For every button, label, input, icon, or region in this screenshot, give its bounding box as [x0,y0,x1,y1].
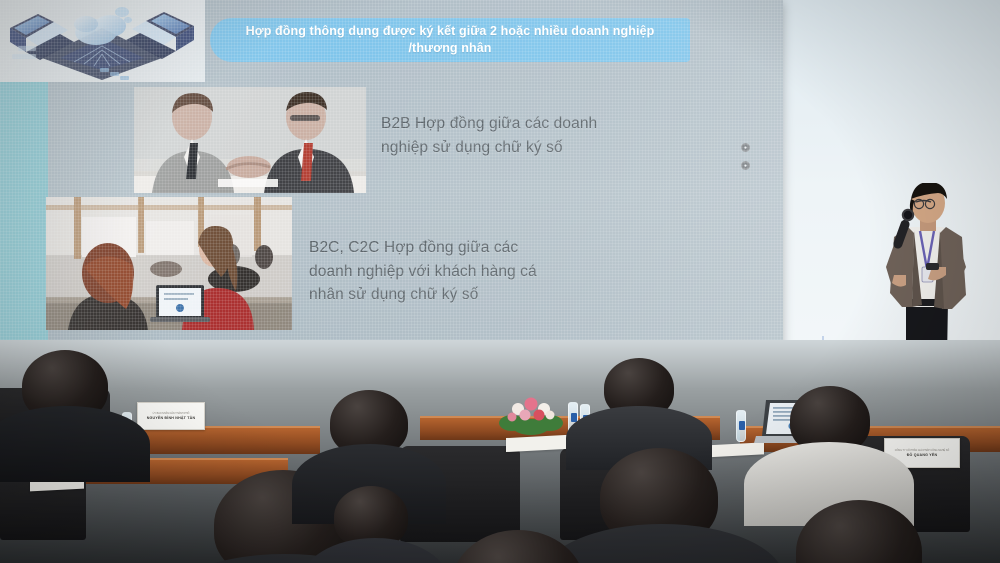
slide-title-text: Hợp đồng thông dụng được ký kết giữa 2 h… [210,23,690,57]
slide-text-b2c: B2C, C2C Hợp đồng giữa các doanh nghiệp … [309,236,559,307]
flower-bouquet [498,393,564,435]
slide-accent-band [0,82,48,349]
name-card-left-name: NGUYỄN ĐÌNH NHẬT TÂN [147,416,196,420]
slide-title-banner: Hợp đồng thông dụng được ký kết giữa 2 h… [210,18,690,62]
bullet-dot-2: ● [741,161,750,170]
name-card-right-name: ĐỖ QUANG YÊN [907,453,938,457]
isometric-laptops-handshake-illustration [4,2,200,82]
slide-image-retail-counter [46,197,292,330]
slide-image-handshake [134,87,366,193]
screenshot-stage: Hợp đồng thông dụng được ký kết giữa 2 h… [0,0,1000,563]
name-card-left: ỦY BAN NHÂN DÂN THÀNH PHỐ NGUYỄN ĐÌNH NH… [137,402,205,430]
audience-shoulders-1 [0,406,150,482]
water-bottle-6 [736,410,746,442]
audience-area: ỦY BAN NHÂN DÂN THÀNH PHỐ NGUYỄN ĐÌNH NH… [0,340,1000,563]
slide-bullet-markers: ● ● [741,143,755,175]
projection-screen: Hợp đồng thông dụng được ký kết giữa 2 h… [0,0,783,349]
slide-text-b2b: B2B Hợp đồng giữa các doanh nghiệp sử dụ… [381,112,611,159]
bullet-dot-1: ● [741,143,750,152]
